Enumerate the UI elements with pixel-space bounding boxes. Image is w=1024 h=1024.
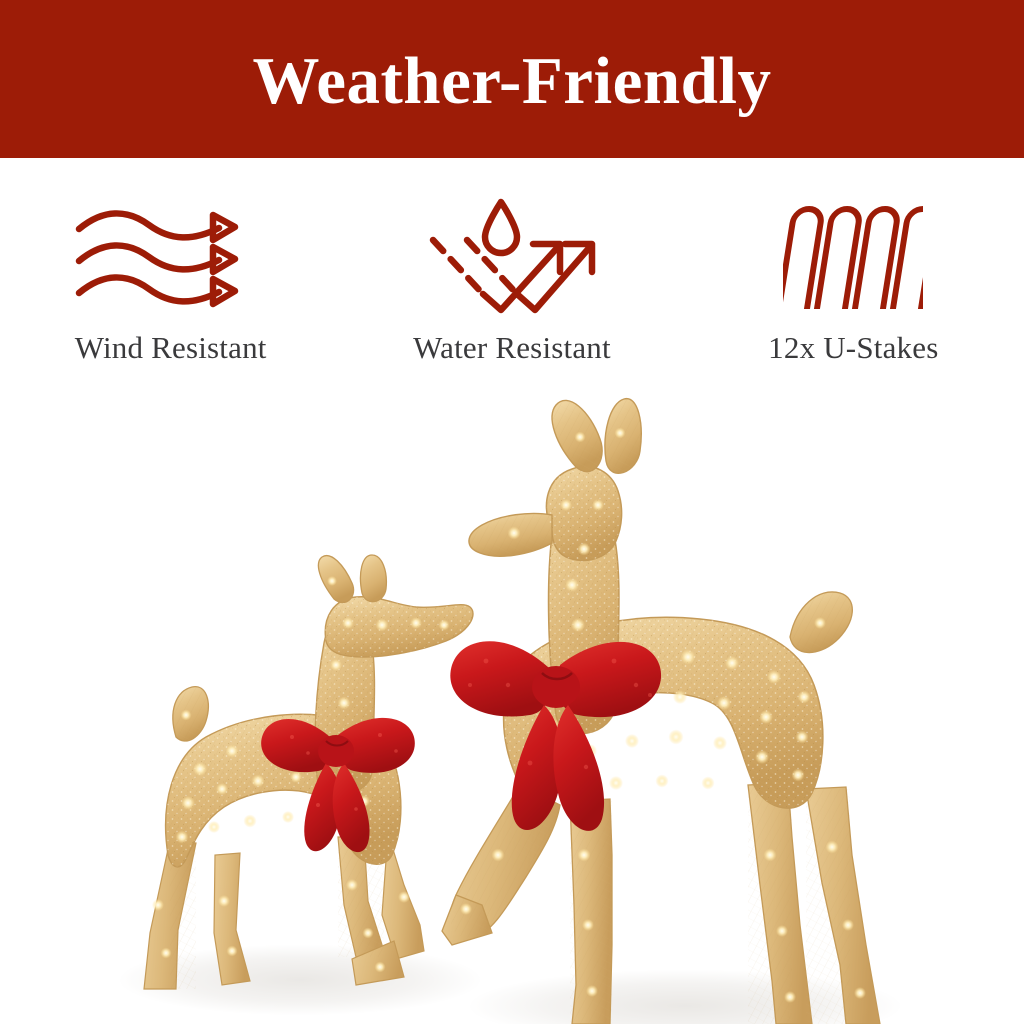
lighted-deer-pair	[0, 385, 1024, 1024]
u-stakes-icon	[783, 190, 923, 320]
feature-label-u-stakes: 12x U-Stakes	[768, 330, 938, 366]
deer-legs	[442, 783, 880, 1024]
product-image	[0, 385, 1024, 1024]
weather-friendly-banner: Weather-Friendly	[0, 0, 1024, 158]
feature-row: Wind Resistant Water Resistant	[0, 158, 1024, 390]
feature-label-water-resistant: Water Resistant	[413, 330, 611, 366]
feature-water-resistant: Water Resistant	[341, 158, 682, 390]
large-deer-figure	[442, 399, 880, 1024]
water-droplet-repel-icon	[427, 190, 597, 320]
feature-u-stakes: 12x U-Stakes	[683, 158, 1024, 390]
page-title: Weather-Friendly	[252, 48, 771, 115]
wind-lines-arrows-icon	[71, 190, 271, 320]
fawn-figure	[144, 555, 473, 989]
fawn-ear-right	[360, 555, 386, 602]
feature-wind-resistant: Wind Resistant	[0, 158, 341, 390]
feature-label-wind-resistant: Wind Resistant	[75, 330, 267, 366]
